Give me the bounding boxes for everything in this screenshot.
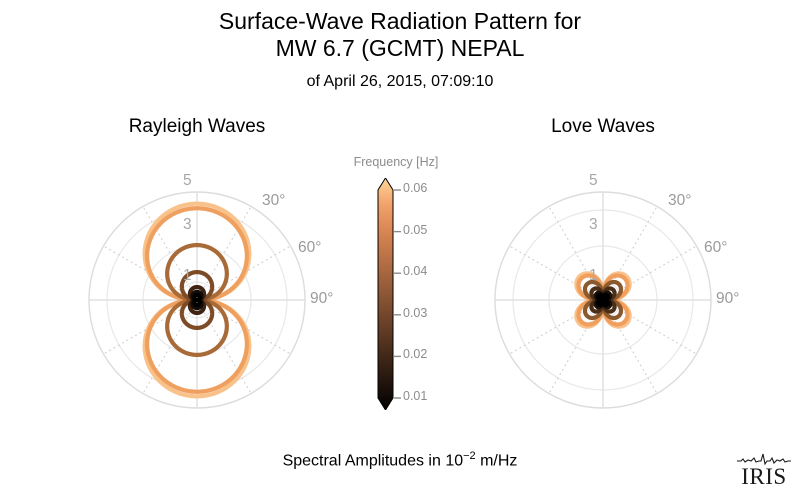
colorbar-title: Frequency [Hz] [316, 155, 476, 169]
angular-tick-30deg: 30° [262, 192, 285, 210]
iris-wordmark: IRIS [735, 465, 793, 488]
radial-tick-3: 3 [589, 216, 598, 234]
curve-f0.01 [194, 295, 199, 305]
angular-tick-60deg: 60° [704, 239, 727, 257]
colorbar-label-0.02: 0.02 [403, 347, 427, 361]
angular-tick-30deg: 30° [668, 192, 691, 210]
caption-exponent: −2 [463, 450, 476, 462]
colorbar-label-0.03: 0.03 [403, 306, 427, 320]
iris-logo: IRIS [735, 452, 793, 490]
radial-tick-3: 3 [183, 216, 192, 234]
radial-tick-1: 1 [589, 267, 598, 285]
figure-canvas: Surface-Wave Radiation Pattern for MW 6.… [0, 0, 800, 496]
angular-tick-90deg: 90° [310, 290, 333, 308]
radial-tick-5: 5 [589, 172, 598, 190]
frequency-colorbar [370, 178, 406, 410]
angular-tick-90deg: 90° [716, 290, 739, 308]
radial-tick-5: 5 [183, 172, 192, 190]
figure-caption: Spectral Amplitudes in 10−2 m/Hz [0, 450, 800, 470]
colorbar-label-0.04: 0.04 [403, 264, 427, 278]
angular-tick-60deg: 60° [298, 239, 321, 257]
curve-f0.012 [598, 295, 608, 305]
colorbar-label-0.06: 0.06 [403, 181, 427, 195]
colorbar-label-0.01: 0.01 [403, 389, 427, 403]
colorbar-gradient [378, 178, 393, 410]
radial-tick-1: 1 [183, 267, 192, 285]
caption-prefix: Spectral Amplitudes in 10 [283, 452, 464, 469]
caption-suffix: m/Hz [476, 452, 518, 469]
colorbar-label-0.05: 0.05 [403, 223, 427, 237]
